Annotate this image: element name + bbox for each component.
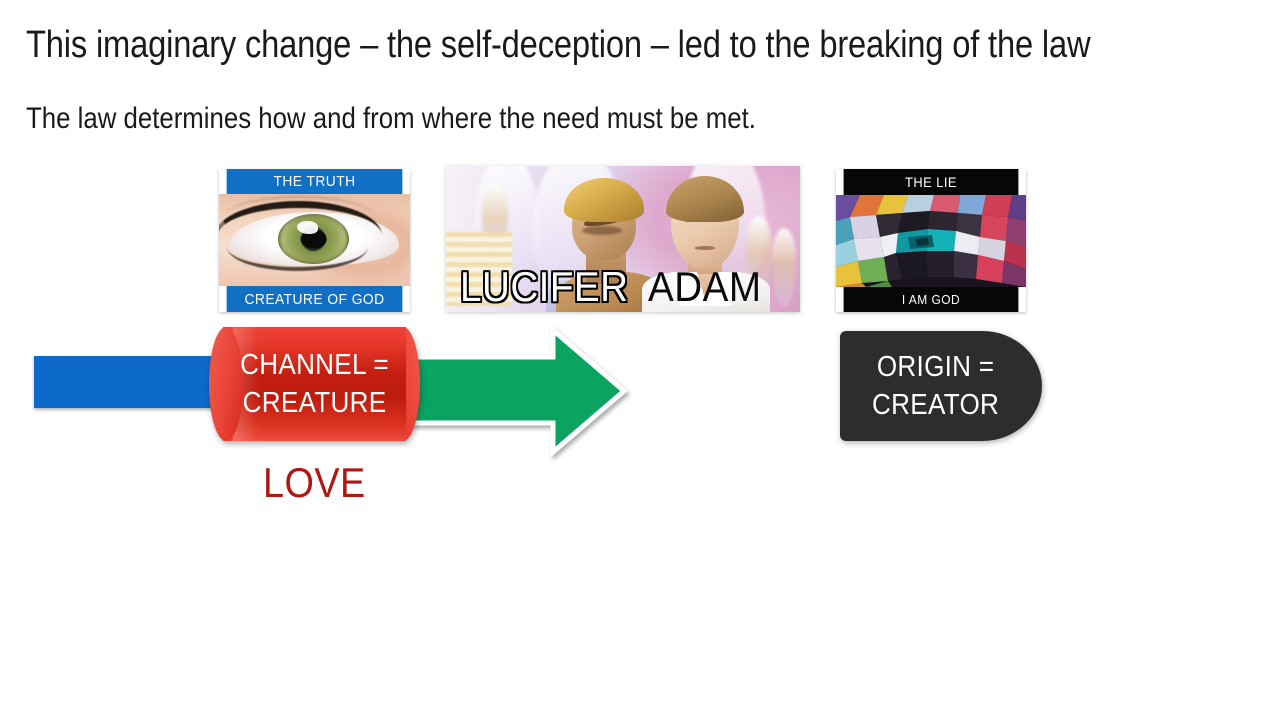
low-poly-colorful-eye xyxy=(836,195,1026,287)
cylinder-label-line2: CREATURE xyxy=(243,384,387,422)
truth-image-card: THE TRUTH CREATURE OF GOD xyxy=(219,169,410,312)
love-label: LOVE xyxy=(263,462,366,504)
adam-label: ADAM xyxy=(648,266,761,308)
adam-mouth xyxy=(695,246,715,250)
origin-shape-label: ORIGIN = CREATOR xyxy=(845,331,1027,441)
origin-label-line1: ORIGIN = xyxy=(877,348,994,386)
channel-creature-cylinder: CHANNEL = CREATURE xyxy=(209,327,420,441)
truth-top-caption: THE TRUTH xyxy=(227,169,403,194)
origin-creator-shape: ORIGIN = CREATOR xyxy=(840,331,1042,441)
green-human-eye-photo xyxy=(219,194,410,286)
origin-label-line2: CREATOR xyxy=(872,386,999,424)
page-subtitle: The law determines how and from where th… xyxy=(26,103,1058,135)
cylinder-label-line1: CHANNEL = xyxy=(240,346,389,384)
truth-bottom-caption: CREATURE OF GOD xyxy=(227,286,403,312)
cylinder-label: CHANNEL = CREATURE xyxy=(220,327,410,441)
page-title: This imaginary change – the self-decepti… xyxy=(26,26,1084,66)
green-arrow-svg xyxy=(404,323,629,459)
low-poly-eye-svg xyxy=(836,195,1026,287)
background-angel-right-b xyxy=(772,228,796,306)
slide-canvas: { "slide": { "title": "This imaginary ch… xyxy=(0,0,1280,720)
lie-bottom-caption: I AM GOD xyxy=(844,287,1019,312)
lucifer-hair xyxy=(564,178,644,222)
lucifer-adam-image-card: LUCIFER ADAM xyxy=(446,166,800,312)
lucifer-eye-shadow xyxy=(582,226,622,235)
lie-top-caption: THE LIE xyxy=(844,169,1019,195)
adam-hair xyxy=(666,176,744,222)
eye-lower-lashes xyxy=(227,247,368,271)
lucifer-label: LUCIFER xyxy=(460,266,629,308)
green-right-arrow xyxy=(404,323,629,459)
lie-image-card: THE LIE xyxy=(836,169,1026,312)
